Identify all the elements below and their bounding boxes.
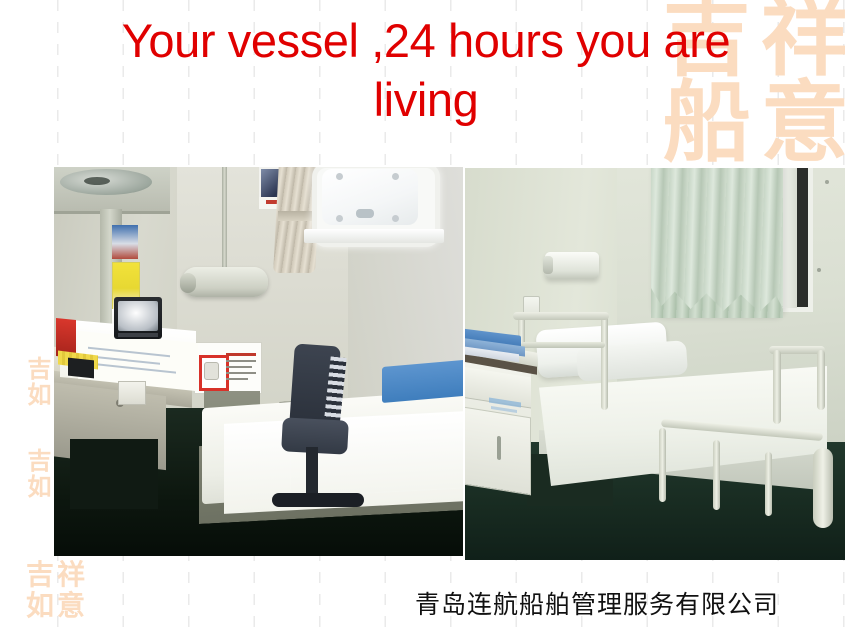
bed-guard-rail-post — [713, 440, 720, 510]
presentation-slide: 吉 祥 船 意 吉 祥 如 意 吉 祥 如 意 吉 祥 如 意 Your ves… — [0, 0, 845, 635]
blue-blanket — [382, 359, 463, 403]
wall-light-fixture — [545, 252, 599, 279]
wall-speck — [817, 268, 821, 272]
green-curtain — [651, 168, 783, 316]
shelf-plate-pattern — [84, 177, 110, 185]
window-sill — [304, 229, 444, 243]
seal-char: 如 — [27, 476, 50, 499]
wall-power-outlet — [118, 381, 146, 405]
porthole-bolt — [336, 215, 343, 222]
porthole-bolt — [392, 215, 399, 222]
office-chair-base — [272, 493, 364, 507]
safety-sign-text-line — [226, 378, 248, 380]
desk-monitor-base — [118, 333, 158, 337]
seal-char: 吉 — [27, 358, 50, 381]
seal-char: 意 — [57, 593, 84, 620]
desk-black-item — [68, 358, 94, 379]
seal-char: 吉 — [26, 562, 53, 589]
ceiling-lamp-rod — [222, 167, 227, 273]
wall-light-cap — [543, 256, 553, 274]
seal-char: 吉 — [27, 450, 50, 473]
photo-scene-left — [54, 167, 463, 556]
bed-guard-rail-post — [765, 452, 772, 516]
bed-footboard-post — [817, 350, 825, 410]
curtain-tieback — [278, 211, 314, 221]
headboard-post — [601, 316, 608, 410]
photo-scene-right — [465, 168, 845, 560]
seal-char: 如 — [26, 593, 53, 620]
wall-poster — [112, 225, 138, 259]
bed-footboard-post — [773, 350, 781, 424]
seal-char: 祥 — [57, 562, 84, 589]
safety-sign-text-line — [226, 360, 256, 362]
safety-sign-text-line — [226, 366, 252, 368]
porthole-bolt — [336, 173, 343, 180]
desk-monitor-screen — [118, 301, 158, 331]
cabin-photo-left — [54, 167, 463, 556]
safety-sign-glyph — [204, 362, 219, 380]
porthole-handle — [356, 209, 374, 218]
bed-guard-rail-post — [659, 428, 666, 502]
headboard-cross-bar — [521, 342, 605, 348]
headboard-top-rail — [513, 312, 609, 320]
seal-char: 如 — [27, 384, 50, 407]
desk-footwell — [70, 439, 158, 509]
porthole-bolt — [392, 173, 399, 180]
wall-speck — [825, 180, 829, 184]
bed-corner-rail — [813, 448, 833, 528]
seal-stamp-small-icon: 吉 祥 如 意 — [24, 560, 86, 622]
slide-title: Your vessel ,24 hours you are living — [56, 12, 796, 130]
safety-sign-text-line — [226, 353, 256, 356]
cabin-window-edge — [783, 168, 797, 308]
ceiling-lamp-cap — [180, 273, 196, 293]
nightstand-handle[interactable] — [497, 436, 501, 461]
company-name-footer: 青岛连航船舶管理服务有限公司 — [415, 585, 835, 621]
safety-sign-text-line — [226, 372, 256, 374]
cabin-photo-right — [465, 168, 845, 560]
